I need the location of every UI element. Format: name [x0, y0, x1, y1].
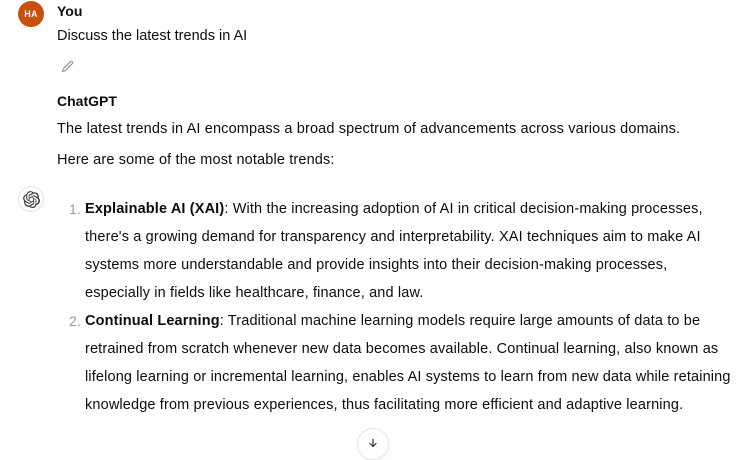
user-message: HA You Discuss the latest trends in AI [0, 0, 747, 78]
user-message-body: You Discuss the latest trends in AI [0, 0, 747, 78]
assistant-paragraph: The latest trends in AI encompass a broa… [57, 116, 733, 142]
user-message-text: Discuss the latest trends in AI [57, 25, 733, 47]
assistant-message: ChatGPT The latest trends in AI encompas… [0, 91, 747, 419]
list-item: Continual Learning: Traditional machine … [85, 307, 733, 419]
scroll-to-bottom-button[interactable] [357, 428, 389, 460]
pencil-icon [60, 59, 75, 74]
chevron-down-icon [367, 437, 379, 449]
user-message-actions [57, 56, 733, 78]
openai-logo-icon [23, 191, 40, 208]
avatar: HA [18, 1, 44, 27]
avatar [18, 186, 44, 212]
trends-list: Explainable AI (XAI): With the increasin… [57, 195, 733, 419]
assistant-paragraph: Here are some of the most notable trends… [57, 147, 733, 173]
user-author-name: You [57, 0, 733, 21]
list-item: Explainable AI (XAI): With the increasin… [85, 195, 733, 307]
conversation-thread: HA You Discuss the latest trends in AI C… [0, 0, 747, 419]
list-item-term: Explainable AI (XAI) [85, 201, 224, 217]
assistant-message-body: ChatGPT The latest trends in AI encompas… [0, 91, 747, 419]
assistant-author-name: ChatGPT [57, 91, 733, 111]
list-item-term: Continual Learning [85, 313, 220, 329]
edit-message-button[interactable] [57, 56, 77, 76]
avatar-initials: HA [24, 10, 38, 19]
